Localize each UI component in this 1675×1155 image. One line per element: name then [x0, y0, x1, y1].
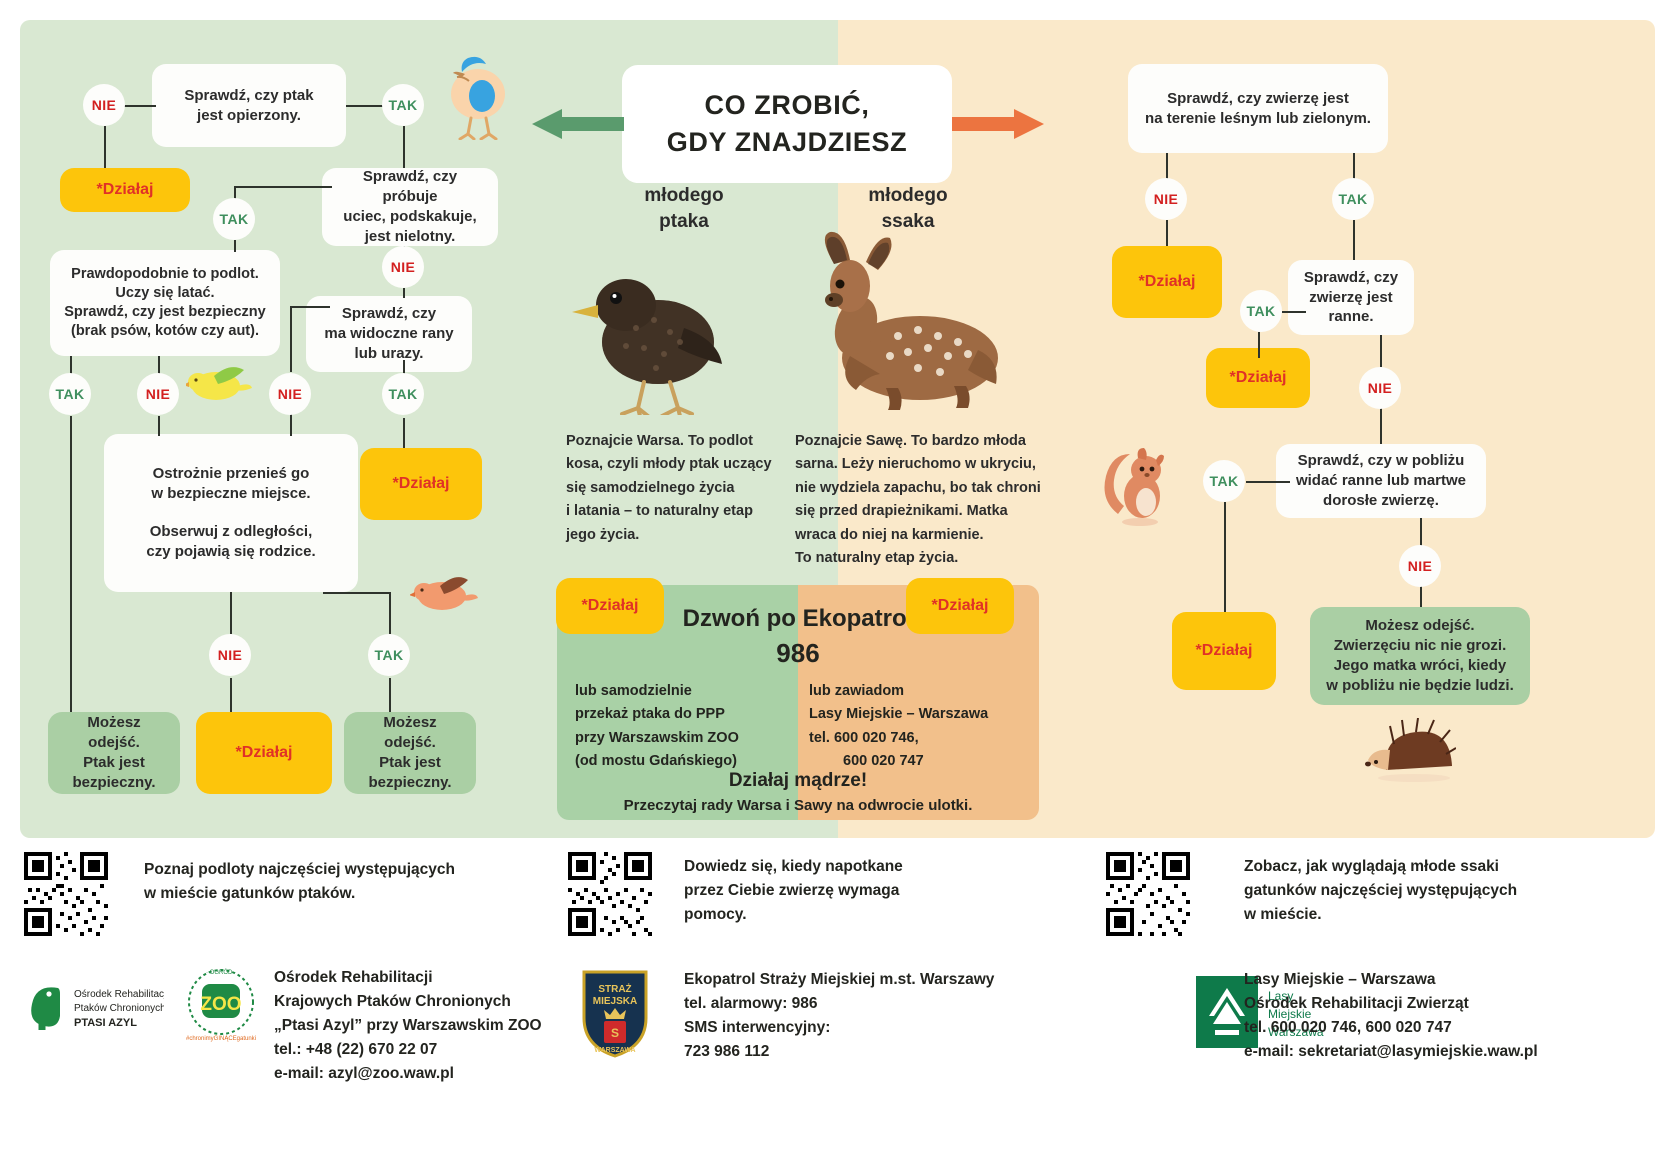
- ekopatrol-number: 986: [557, 638, 1039, 669]
- mammal-q2-line-3: ranne.: [1304, 307, 1398, 327]
- hedgehog-illustration: [1364, 718, 1456, 789]
- mammal-safe-line-1: Możesz odejść.: [1326, 616, 1514, 636]
- org-lasy-line-1: Lasy Miejskie – Warszawa: [1244, 968, 1664, 992]
- mammal-q2-line-1: Sprawdź, czy: [1304, 268, 1398, 288]
- connector-line: [1282, 311, 1306, 313]
- svg-text:· OGRÓD ·: · OGRÓD ·: [206, 969, 236, 976]
- chick-illustration: [438, 52, 516, 145]
- mammal-question-location[interactable]: Sprawdź, czy zwierzę jest na terenie leś…: [1128, 64, 1388, 153]
- bird-safe-right-line-3: bezpieczny.: [356, 773, 464, 793]
- qr-caption-help-line-2: przez Ciebie zwierzę wymaga: [684, 879, 1014, 903]
- mammal-story-line-6: To naturalny etap życia.: [795, 547, 1057, 570]
- bird-story-line-2: kosa, czyli młody ptak uczący: [566, 453, 816, 476]
- bird-info-line-2: Uczy się latać.: [64, 284, 265, 303]
- blackbird-illustration: [566, 250, 766, 420]
- qr-code-help[interactable]: [568, 852, 652, 936]
- pill-yes-bird-parents[interactable]: TAK: [368, 634, 410, 676]
- connector-line: [70, 416, 72, 712]
- org-zoo-line-4: tel.: +48 (22) 670 22 07: [274, 1038, 574, 1062]
- act-badge-mammal-1[interactable]: *Działaj: [1112, 246, 1222, 318]
- bird-question-feathered[interactable]: Sprawdź, czy ptak jest opierzony.: [152, 64, 346, 147]
- mammal-q2-line-2: zwierzę jest: [1304, 288, 1398, 308]
- org-zoo-line-3: „Ptasi Azyl” przy Warszawskim ZOO: [274, 1014, 574, 1038]
- mammal-story-line-1: Poznajcie Sawę. To bardzo młoda: [795, 430, 1057, 453]
- title-line-2: GDY ZNAJDZIESZ: [667, 127, 907, 158]
- bird-subtitle-line-2: ptaka: [584, 209, 784, 235]
- mammal-q1-line-1: Sprawdź, czy zwierzę jest: [1145, 89, 1371, 109]
- ekopatrol-right-line-3: tel. 600 020 746,: [809, 727, 1034, 750]
- connector-line: [120, 105, 156, 107]
- qr-caption-mammals: Zobacz, jak wyglądają młode ssaki gatunk…: [1244, 855, 1654, 927]
- org-ekopatrol-line-2: tel. alarmowy: 986: [684, 992, 1064, 1016]
- bird-story-line-5: jego życia.: [566, 524, 816, 547]
- connector-line: [290, 306, 330, 308]
- bird-q3-line-3: lub urazy.: [324, 344, 453, 364]
- svg-text:ZOO: ZOO: [200, 994, 241, 1015]
- squirrel-illustration: [1102, 442, 1176, 531]
- bird-info-line-4: (brak psów, kotów czy aut).: [64, 322, 265, 341]
- ptasi-azyl-logo: Ośrodek Rehabilitacji Ptaków Chronionych…: [24, 978, 164, 1041]
- org-zoo-line-1: Ośrodek Rehabilitacji: [274, 966, 574, 990]
- pill-yes-bird-q1[interactable]: TAK: [382, 84, 424, 126]
- pill-yes-mammal-q3[interactable]: TAK: [1203, 460, 1245, 502]
- ekopatrol-left-line-3: przy Warszawskim ZOO: [575, 727, 790, 750]
- mammal-safe-line-2: Zwierzęciu nic nie grozi.: [1326, 636, 1514, 656]
- bird-move-line-2: w bezpieczne miejsce.: [146, 484, 315, 504]
- logo-line-2: Ptaków Chronionych: [74, 1003, 164, 1014]
- mammal-subtitle: młodego ssaka: [808, 183, 1008, 234]
- connector-line: [234, 186, 332, 188]
- bird-q1-line-1: Sprawdź, czy ptak: [184, 86, 313, 106]
- mammal-q3-line-3: dorosłe zwierzę.: [1296, 491, 1466, 511]
- bird-story-line-4: i latania – to naturalny etap: [566, 500, 816, 523]
- connector-line: [346, 105, 386, 107]
- qr-caption-help: Dowiedz się, kiedy napotkane przez Ciebi…: [684, 855, 1014, 927]
- pill-no-bird-q1[interactable]: NIE: [83, 84, 125, 126]
- bird-safe-right-line-2: Ptak jest: [356, 753, 464, 773]
- mammal-story-line-3: nie wydziela zapachu, bo tak chroni: [795, 477, 1057, 500]
- connector-line: [104, 126, 106, 168]
- arrow-left-icon: [532, 107, 624, 141]
- connector-line: [389, 678, 391, 712]
- mammal-q3-line-2: widać ranne lub martwe: [1296, 471, 1466, 491]
- connector-line: [1166, 153, 1168, 181]
- mammal-story-text: Poznajcie Sawę. To bardzo młoda sarna. L…: [795, 430, 1057, 571]
- bird-q1-line-2: jest opierzony.: [184, 106, 313, 126]
- ekopatrol-left-text: lub samodzielnie przekaż ptaka do PPP pr…: [575, 680, 790, 774]
- qr-caption-mammals-line-3: w mieście.: [1244, 903, 1654, 927]
- straz-miejska-logo: STRAŻ MIEJSKA S WARSZAWA: [576, 966, 654, 1063]
- qr-caption-help-line-1: Dowiedz się, kiedy napotkane: [684, 855, 1014, 879]
- mammal-safe-line-4: w pobliżu nie będzie ludzi.: [1326, 676, 1514, 696]
- act-badge-mammal-ekopatrol[interactable]: *Działaj: [906, 578, 1014, 634]
- qr-caption-birds-line-1: Poznaj podloty najczęściej występujących: [144, 858, 524, 882]
- org-zoo-line-2: Krajowych Ptaków Chronionych: [274, 990, 574, 1014]
- bird-safe-right-line-1: Możesz odejść.: [356, 713, 464, 753]
- qr-caption-mammals-line-2: gatunków najczęściej występujących: [1244, 879, 1654, 903]
- ekopatrol-right-line-1: lub zawiadom: [809, 680, 1034, 703]
- ekopatrol-left-line-2: przekaż ptaka do PPP: [575, 703, 790, 726]
- connector-line: [1246, 481, 1290, 483]
- act-badge-bird-3[interactable]: *Działaj: [196, 712, 332, 794]
- qr-code-birds[interactable]: [24, 852, 108, 936]
- ekopatrol-footer-sub: Przeczytaj rady Warsa i Sawy na odwrocie…: [557, 797, 1039, 814]
- yellow-bird-illustration: [186, 360, 252, 411]
- logo-line-1: Ośrodek Rehabilitacji: [74, 989, 164, 1000]
- ekopatrol-right-line-2: Lasy Miejskie – Warszawa: [809, 703, 1034, 726]
- connector-line: [403, 418, 405, 448]
- ekopatrol-footer-bold: Działaj mądrze!: [557, 770, 1039, 792]
- bird-outcome-safe-left[interactable]: Możesz odejść. Ptak jest bezpieczny.: [48, 712, 180, 794]
- connector-line: [234, 240, 236, 252]
- qr-caption-birds: Poznaj podloty najczęściej występujących…: [144, 858, 524, 906]
- connector-line: [1420, 585, 1422, 607]
- bird-safe-left-line-2: Ptak jest: [60, 753, 168, 773]
- mammal-outcome-safe[interactable]: Możesz odejść. Zwierzęciu nic nie grozi.…: [1310, 607, 1530, 705]
- pill-yes-bird-safe[interactable]: TAK: [49, 373, 91, 415]
- fawn-illustration: [790, 228, 1015, 423]
- pill-yes-bird-q2[interactable]: TAK: [213, 198, 255, 240]
- qr-code-mammals[interactable]: [1106, 852, 1190, 936]
- org-info-lasy: Lasy Miejskie – Warszawa Ośrodek Rehabil…: [1244, 968, 1664, 1064]
- bird-q3-line-1: Sprawdź, czy: [324, 304, 453, 324]
- bird-q2-line-3: jest nielotny.: [334, 227, 486, 247]
- connector-line: [1353, 220, 1355, 260]
- bird-question-escape[interactable]: Sprawdź, czy próbuje uciec, podskakuje, …: [322, 168, 498, 246]
- pill-no-mammal-q1[interactable]: NIE: [1145, 178, 1187, 220]
- connector-line: [1353, 153, 1355, 181]
- pill-yes-bird-injury[interactable]: TAK: [382, 373, 424, 415]
- mammal-story-line-4: się przed drapieżnikami. Matka: [795, 500, 1057, 523]
- svg-text:#chronimyGINĄCEgatunki: #chronimyGINĄCEgatunki: [186, 1036, 256, 1042]
- bird-move-line-3: Obserwuj z odległości,: [146, 522, 315, 542]
- pill-yes-mammal-q2[interactable]: TAK: [1240, 290, 1282, 332]
- bird-action-move[interactable]: Ostrożnie przenieś go w bezpieczne miejs…: [104, 434, 358, 592]
- mammal-q1-line-2: na terenie leśnym lub zielonym.: [1145, 109, 1371, 129]
- act-badge-bird-ekopatrol[interactable]: *Działaj: [556, 578, 664, 634]
- mammal-safe-line-3: Jego matka wróci, kiedy: [1326, 656, 1514, 676]
- pill-no-mammal-q2[interactable]: NIE: [1359, 367, 1401, 409]
- act-badge-bird-1[interactable]: *Działaj: [60, 168, 190, 212]
- bird-info-fledgling[interactable]: Prawdopodobnie to podlot. Uczy się latać…: [50, 250, 280, 356]
- bird-move-line-4: czy pojawią się rodzice.: [146, 542, 315, 562]
- org-info-zoo: Ośrodek Rehabilitacji Krajowych Ptaków C…: [274, 966, 574, 1086]
- bird-story-text: Poznajcie Warsa. To podlot kosa, czyli m…: [566, 430, 816, 547]
- ekopatrol-right-text: lub zawiadom Lasy Miejskie – Warszawa te…: [809, 680, 1034, 774]
- org-zoo-line-5: e-mail: azyl@zoo.waw.pl: [274, 1062, 574, 1086]
- connector-line: [403, 288, 405, 298]
- svg-text:MIEJSKA: MIEJSKA: [593, 996, 637, 1007]
- logo-line-3: PTASI AZYL: [74, 1017, 137, 1029]
- connector-line: [290, 306, 292, 372]
- pill-no-bird-safe[interactable]: NIE: [137, 373, 179, 415]
- connector-line: [1224, 502, 1226, 612]
- org-ekopatrol-line-3: SMS interwencyjny:: [684, 1016, 1064, 1040]
- bird-safe-left-line-3: bezpieczny.: [60, 773, 168, 793]
- connector-line: [290, 414, 292, 436]
- bird-question-injury[interactable]: Sprawdź, czy ma widoczne rany lub urazy.: [306, 296, 472, 372]
- connector-line: [158, 416, 160, 436]
- bird-subtitle: młodego ptaka: [584, 183, 784, 234]
- org-lasy-line-4: e-mail: sekretariat@lasymiejskie.waw.pl: [1244, 1040, 1664, 1064]
- bird-move-line-1: Ostrożnie przenieś go: [146, 464, 315, 484]
- bird-q3-line-2: ma widoczne rany: [324, 324, 453, 344]
- pill-yes-mammal-q1[interactable]: TAK: [1332, 178, 1374, 220]
- svg-text:WARSZAWA: WARSZAWA: [594, 1047, 635, 1054]
- pill-no-bird-q2[interactable]: NIE: [382, 246, 424, 288]
- mammal-subtitle-line-1: młodego: [808, 183, 1008, 209]
- bird-story-line-3: się samodzielnego życia: [566, 477, 816, 500]
- ekopatrol-left-line-1: lub samodzielnie: [575, 680, 790, 703]
- warsaw-zoo-logo: ZOO · OGRÓD · #chronimyGINĄCEgatunki: [176, 966, 266, 1049]
- connector-line: [403, 126, 405, 168]
- qr-caption-mammals-line-1: Zobacz, jak wyglądają młode ssaki: [1244, 855, 1654, 879]
- bird-info-line-1: Prawdopodobnie to podlot.: [64, 265, 265, 284]
- connector-line: [230, 678, 232, 712]
- connector-line: [389, 592, 391, 634]
- qr-caption-birds-line-2: w mieście gatunków ptaków.: [144, 882, 524, 906]
- mammal-story-line-5: wraca do niej na karmienie.: [795, 524, 1057, 547]
- bird-outcome-safe-right[interactable]: Możesz odejść. Ptak jest bezpieczny.: [344, 712, 476, 794]
- title-line-1: CO ZROBIĆ,: [705, 90, 870, 121]
- mammal-q3-line-1: Sprawdź, czy w pobliżu: [1296, 451, 1466, 471]
- connector-line: [230, 592, 232, 634]
- bird-q2-line-2: uciec, podskakuje,: [334, 207, 486, 227]
- connector-line: [1258, 332, 1260, 358]
- mammal-story-line-2: sarna. Leży nieruchomo w ukryciu,: [795, 453, 1057, 476]
- svg-text:S: S: [611, 1026, 619, 1040]
- org-lasy-line-3: tel. 600 020 746, 600 020 747: [1244, 1016, 1664, 1040]
- bird-story-line-1: Poznajcie Warsa. To podlot: [566, 430, 816, 453]
- pill-no-bird-parents[interactable]: NIE: [209, 634, 251, 676]
- bird-subtitle-line-1: młodego: [584, 183, 784, 209]
- connector-line: [1166, 220, 1168, 246]
- orange-bird-illustration: [410, 570, 478, 623]
- org-ekopatrol-line-4: 723 986 112: [684, 1040, 1064, 1064]
- main-title-card: CO ZROBIĆ, GDY ZNAJDZIESZ: [622, 65, 952, 183]
- act-badge-bird-2[interactable]: *Działaj: [360, 448, 482, 520]
- connector-line: [323, 592, 389, 594]
- mammal-question-adult-nearby[interactable]: Sprawdź, czy w pobliżu widać ranne lub m…: [1276, 444, 1486, 518]
- act-badge-mammal-3[interactable]: *Działaj: [1172, 612, 1276, 690]
- mammal-question-injured[interactable]: Sprawdź, czy zwierzę jest ranne.: [1288, 260, 1414, 335]
- pill-no-mammal-q3[interactable]: NIE: [1399, 545, 1441, 587]
- arrow-right-icon: [952, 107, 1044, 141]
- bird-info-line-3: Sprawdź, czy jest bezpieczny: [64, 303, 265, 322]
- connector-line: [1380, 335, 1382, 367]
- org-info-ekopatrol: Ekopatrol Straży Miejskiej m.st. Warszaw…: [684, 968, 1064, 1064]
- bird-q2-line-1: Sprawdź, czy próbuje: [334, 167, 486, 207]
- qr-caption-help-line-3: pomocy.: [684, 903, 1014, 927]
- pill-no-bird-injury[interactable]: NIE: [269, 373, 311, 415]
- org-ekopatrol-line-1: Ekopatrol Straży Miejskiej m.st. Warszaw…: [684, 968, 1064, 992]
- org-lasy-line-2: Ośrodek Rehabilitacji Zwierząt: [1244, 992, 1664, 1016]
- svg-text:STRAŻ: STRAŻ: [598, 982, 631, 995]
- bird-safe-left-line-1: Możesz odejść.: [60, 713, 168, 753]
